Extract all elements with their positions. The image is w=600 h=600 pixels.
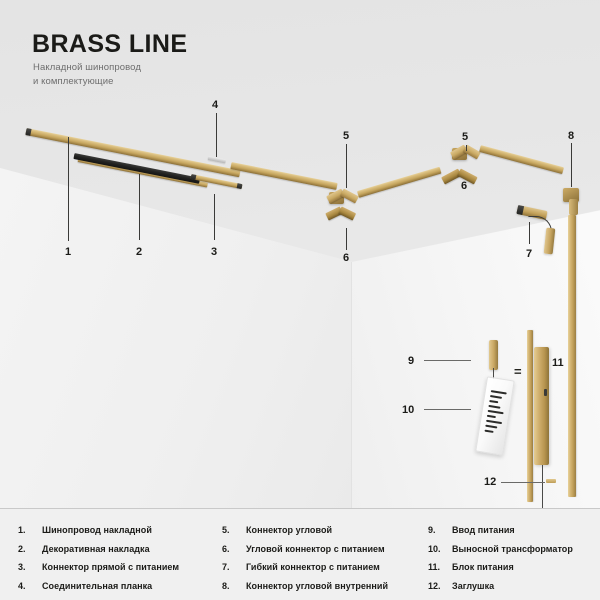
callout-line-5b <box>466 145 467 151</box>
legend-item: 3. Коннектор прямой с питанием <box>18 562 218 572</box>
legend-item: 6. Угловой коннектор с питанием <box>222 544 427 554</box>
legend-item-number: 4. <box>18 581 42 591</box>
equals-symbol: = <box>514 364 522 379</box>
legend-item-label: Ввод питания <box>452 525 515 535</box>
legend-column-1: 1. Шинопровод накладной 2. Декоративная … <box>18 525 218 599</box>
callout-line-6a <box>346 228 347 250</box>
power-supply-unit <box>534 347 549 465</box>
callout-line-12 <box>501 482 545 483</box>
callout-line-5a <box>346 144 347 188</box>
callout-number-8: 8 <box>568 130 574 142</box>
callout-number-6b: 6 <box>461 180 467 192</box>
legend-item: 1. Шинопровод накладной <box>18 525 218 535</box>
legend-item-number: 9. <box>428 525 452 535</box>
legend-item-number: 7. <box>222 562 246 572</box>
callout-number-3: 3 <box>211 246 217 258</box>
callout-line-8 <box>571 143 572 187</box>
connector-end-cap-icon <box>191 174 197 180</box>
legend-item: 9. Ввод питания <box>428 525 600 535</box>
inner-corner-connector-leg <box>569 199 578 215</box>
callout-number-2: 2 <box>136 246 142 258</box>
legend-item: 10. Выносной трансформатор <box>428 544 600 554</box>
legend-item-number: 11. <box>428 562 452 572</box>
callout-line-4 <box>216 113 217 157</box>
legend-item: 2. Декоративная накладка <box>18 544 218 554</box>
callout-number-7: 7 <box>526 248 532 260</box>
legend-item: 8. Коннектор угловой внутренний <box>222 581 427 591</box>
legend-item-number: 5. <box>222 525 246 535</box>
room-scene: = 1 2 3 4 5 6 5 6 7 8 9 10 11 <box>0 0 600 508</box>
legend-item-label: Коннектор прямой с питанием <box>42 562 179 572</box>
legend-item-label: Соединительная планка <box>42 581 152 591</box>
callout-number-5a: 5 <box>343 130 349 142</box>
page-subtitle-line-2: и комплектующие <box>33 75 141 89</box>
legend-item: 11. Блок питания <box>428 562 600 572</box>
page-title: BRASS LINE <box>32 30 187 59</box>
callout-line-2 <box>139 174 140 240</box>
room-corner-seam <box>351 262 352 508</box>
flex-connector-cap-icon <box>516 205 524 215</box>
legend-column-2: 5. Коннектор угловой 6. Угловой коннекто… <box>222 525 427 599</box>
vertical-track-rail-long <box>568 215 576 497</box>
legend-item-number: 1. <box>18 525 42 535</box>
power-input-pod <box>489 340 498 370</box>
legend-item-number: 12. <box>428 581 452 591</box>
legend-item: 4. Соединительная планка <box>18 581 218 591</box>
callout-line-7 <box>529 222 530 244</box>
legend-column-3: 9. Ввод питания 10. Выносной трансформат… <box>428 525 600 599</box>
callout-line-3 <box>214 194 215 240</box>
legend-item-number: 8. <box>222 581 246 591</box>
legend-item-label: Коннектор угловой <box>246 525 332 535</box>
product-diagram-page: = 1 2 3 4 5 6 5 6 7 8 9 10 11 <box>0 0 600 600</box>
callout-number-12: 12 <box>484 476 496 488</box>
callout-number-10: 10 <box>402 404 414 416</box>
callout-number-1: 1 <box>65 246 71 258</box>
legend-item-number: 2. <box>18 544 42 554</box>
legend-item: 7. Гибкий коннектор с питанием <box>222 562 427 572</box>
legend-item-label: Коннектор угловой внутренний <box>246 581 388 591</box>
legend-item-label: Декоративная накладка <box>42 544 150 554</box>
callout-line-10 <box>424 409 471 410</box>
legend-item: 12. Заглушка <box>428 581 600 591</box>
legend-item-label: Заглушка <box>452 581 494 591</box>
page-subtitle: Накладной шинопровод и комплектующие <box>33 61 141 88</box>
legend-item-label: Выносной трансформатор <box>452 544 573 554</box>
legend-item: 5. Коннектор угловой <box>222 525 427 535</box>
legend-item-number: 10. <box>428 544 452 554</box>
legend-item-label: Гибкий коннектор с питанием <box>246 562 380 572</box>
legend-panel: 1. Шинопровод накладной 2. Декоративная … <box>0 509 600 600</box>
callout-number-6a: 6 <box>343 252 349 264</box>
rail-end-cap-icon <box>25 128 31 136</box>
callout-line-9 <box>424 360 471 361</box>
callout-number-11: 11 <box>552 357 564 369</box>
vertical-track-rail-short <box>527 330 533 502</box>
legend-item-number: 6. <box>222 544 246 554</box>
callout-number-4: 4 <box>212 99 218 111</box>
callout-number-5b: 5 <box>462 131 468 143</box>
legend-item-label: Угловой коннектор с питанием <box>246 544 385 554</box>
legend-item-number: 3. <box>18 562 42 572</box>
callout-number-9: 9 <box>408 355 414 367</box>
legend-item-label: Шинопровод накладной <box>42 525 152 535</box>
connector-end-cap-icon <box>237 183 243 189</box>
transformer-label-lines <box>484 390 507 440</box>
legend-item-label: Блок питания <box>452 562 514 572</box>
end-cap-part <box>546 479 556 483</box>
power-supply-lead-wire <box>542 465 543 508</box>
callout-line-1 <box>68 137 69 241</box>
page-subtitle-line-1: Накладной шинопровод <box>33 61 141 75</box>
power-supply-port-icon <box>544 389 547 396</box>
